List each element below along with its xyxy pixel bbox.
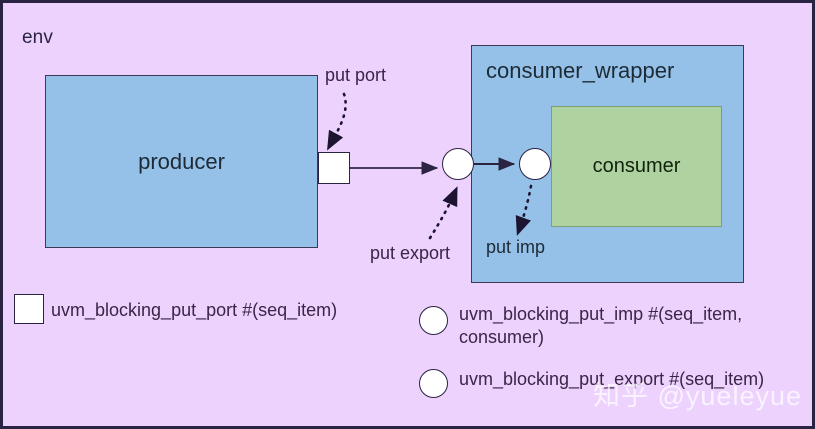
watermark-text: 知乎 @yueleyue — [593, 374, 802, 413]
put-export-circle-glyph — [442, 148, 474, 180]
legend-label-put-port: uvm_blocking_put_port #(seq_item) — [51, 299, 337, 322]
env-label: env — [22, 27, 53, 49]
consumer-wrapper-label: consumer_wrapper — [486, 58, 674, 84]
put-export-annotation-label: put export — [370, 243, 450, 264]
consumer-component-box: consumer — [551, 106, 722, 227]
put-imp-annotation-label: put imp — [486, 237, 545, 258]
uvm-tlm-connection-diagram: env producer consumer_wrapper consumer — [0, 0, 815, 429]
legend-label-put-imp: uvm_blocking_put_imp #(seq_item, consume… — [459, 303, 779, 349]
legend-square-glyph — [14, 294, 44, 324]
legend-circle-glyph-imp — [419, 306, 448, 335]
producer-component-box: producer — [45, 75, 318, 248]
put-port-square-glyph — [318, 152, 350, 184]
put-port-annotation-label: put port — [325, 65, 386, 86]
consumer-label: consumer — [593, 155, 681, 178]
legend-circle-glyph-export — [419, 369, 448, 398]
put-imp-circle-glyph — [519, 148, 551, 180]
producer-label: producer — [138, 149, 225, 175]
